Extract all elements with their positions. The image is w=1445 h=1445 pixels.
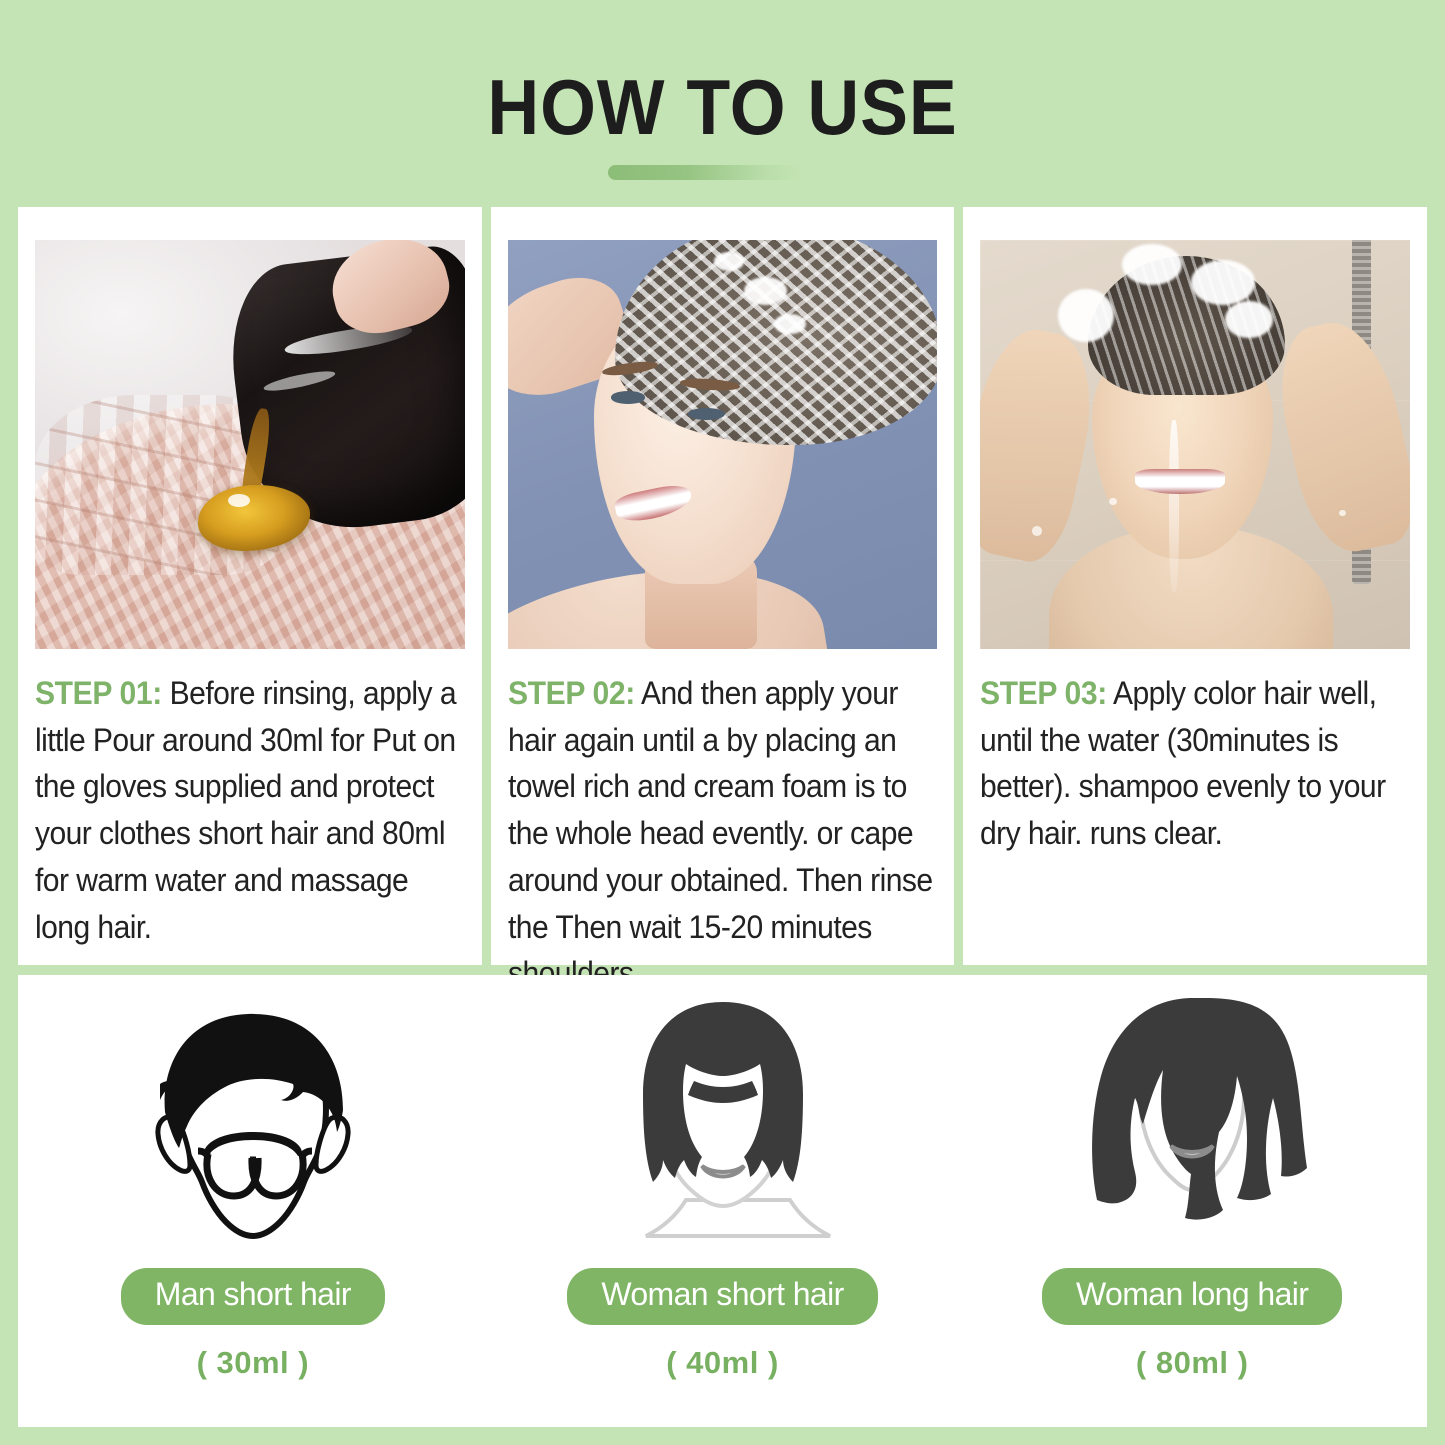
eye-left	[611, 391, 645, 403]
step-2-text: STEP 02: And then apply your hair again …	[508, 670, 936, 997]
title-underline-bar	[608, 165, 804, 180]
woman-rinsing-hair-in-shower-photo	[980, 240, 1410, 649]
dosage-volume-woman-long-hair: ( 80ml )	[1136, 1345, 1249, 1381]
dosage-item-man-short-hair: Man short hair ( 30ml )	[18, 975, 488, 1427]
foam-blob	[1225, 301, 1272, 338]
liquid-highlight	[228, 494, 249, 507]
lathered-hair-shape	[615, 240, 937, 445]
dosage-volume-man-short-hair: ( 30ml )	[197, 1345, 310, 1381]
water-stream	[1169, 420, 1178, 592]
infographic-page: HOW TO USE STEP 01: Before rinsing, appl…	[0, 0, 1445, 1445]
dosage-item-woman-short-hair: Woman short hair ( 40ml )	[488, 975, 958, 1427]
dosage-panel: Man short hair ( 30ml ) Woman short hair…	[18, 975, 1427, 1427]
step-1-body: Before rinsing, apply a little Pour arou…	[35, 675, 456, 945]
dosage-item-woman-long-hair: Woman long hair ( 80ml )	[957, 975, 1427, 1427]
step-card-3: STEP 03: Apply color hair well, until th…	[963, 207, 1427, 965]
woman-long-hair-icon	[1077, 988, 1307, 1260]
dosage-label-man-short-hair: Man short hair	[121, 1268, 385, 1325]
foam-blob	[774, 314, 806, 334]
smiling-mouth	[1135, 469, 1225, 494]
water-droplet	[1109, 498, 1117, 505]
step-3-text: STEP 03: Apply color hair well, until th…	[980, 670, 1408, 857]
header: HOW TO USE	[0, 0, 1445, 207]
steps-row: STEP 01: Before rinsing, apply a little …	[18, 207, 1427, 965]
page-title: HOW TO USE	[58, 62, 1387, 153]
foam-blob	[744, 277, 787, 306]
dosage-label-woman-short-hair: Woman short hair	[567, 1268, 877, 1325]
step-3-label: STEP 03:	[980, 675, 1107, 711]
eye-right	[688, 408, 725, 420]
water-droplet	[1339, 510, 1346, 517]
woman-short-hair-icon	[608, 988, 838, 1260]
foam-blob	[714, 252, 744, 270]
man-short-hair-icon	[138, 988, 368, 1260]
dosage-label-woman-long-hair: Woman long hair	[1042, 1268, 1342, 1325]
step-card-1: STEP 01: Before rinsing, apply a little …	[18, 207, 482, 965]
step-1-text: STEP 01: Before rinsing, apply a little …	[35, 670, 463, 950]
foam-blob	[1122, 244, 1182, 285]
step-2-label: STEP 02:	[508, 675, 635, 711]
step-1-label: STEP 01:	[35, 675, 162, 711]
foam-blob	[1058, 289, 1114, 342]
step-2-body: And then apply your hair again until a b…	[508, 675, 933, 991]
step-card-2: STEP 02: And then apply your hair again …	[491, 207, 955, 965]
woman-lathering-hair-photo	[508, 240, 938, 649]
pouring-oil-onto-gloved-hand-photo	[35, 240, 465, 649]
dosage-volume-woman-short-hair: ( 40ml )	[666, 1345, 779, 1381]
